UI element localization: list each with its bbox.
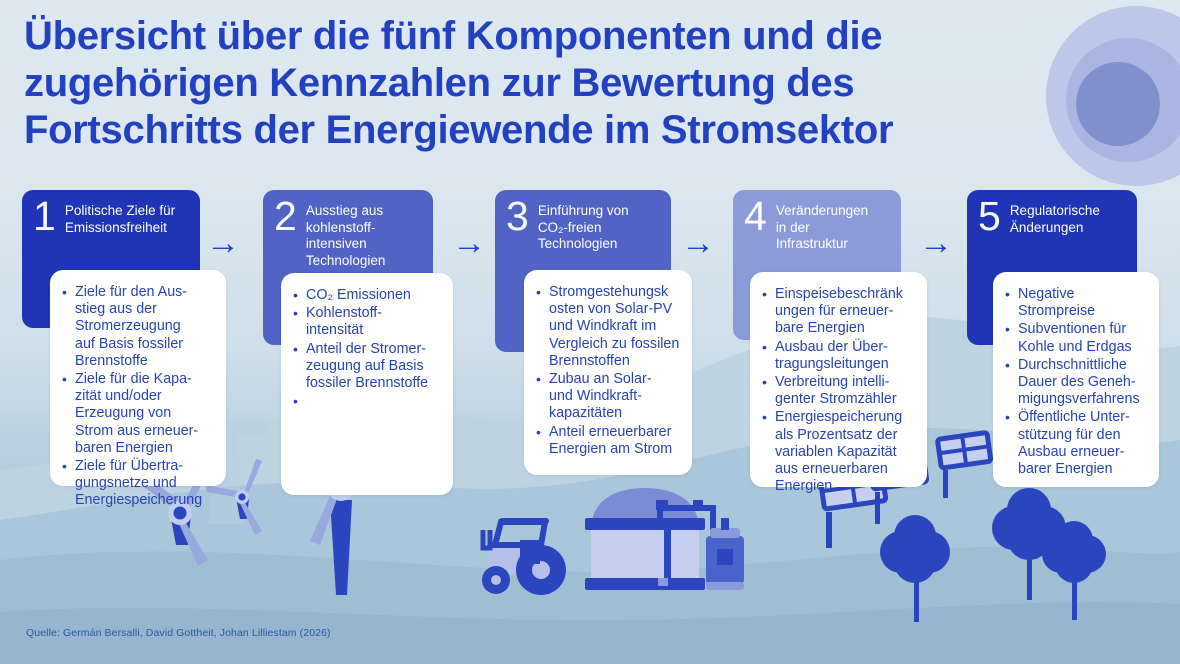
step-4-bullet-1: Einspeisebeschränk ungen für erneuer- ba… <box>775 286 915 338</box>
step-3-bullet-3: Anteil erneuerbarer Energien am Strom <box>549 424 680 458</box>
arrow-2-to-3: → <box>452 226 486 260</box>
step-3-body: Stromgestehungsk osten von Solar-PV und … <box>524 270 692 475</box>
step-1-bullet-2: Ziele für die Kapa- zität und/oder Erzeu… <box>75 371 214 457</box>
step-1-body: Ziele für den Aus- stieg aus der Stromer… <box>50 270 226 486</box>
arrow-icon: → <box>681 224 715 262</box>
infographic-canvas: Übersicht über die fünf Komponenten und … <box>0 0 1180 664</box>
step-5-number: 5 <box>978 198 1001 234</box>
step-2-bullet-2: Kohlenstoff- intensität <box>306 305 441 339</box>
step-4-bullet-4: Energiespeicherung als Prozentsatz der v… <box>775 409 915 495</box>
step-1-bullet-1: Ziele für den Aus- stieg aus der Stromer… <box>75 284 214 370</box>
step-4-body: Einspeisebeschränk ungen für erneuer- ba… <box>750 272 927 487</box>
arrow-icon: → <box>919 224 953 262</box>
step-3-bullet-1: Stromgestehungsk osten von Solar-PV und … <box>549 284 680 370</box>
step-5-bullet-1: Negative Strompreise <box>1018 286 1147 320</box>
step-5-bullet-2: Subventionen für Kohle und Erdgas <box>1018 321 1147 355</box>
step-4-bullet-3: Verbreitung intelli- genter Stromzähler <box>775 374 915 408</box>
step-1-bullet-3: Ziele für Übertra- gungsnetze und Energi… <box>75 458 214 510</box>
step-5-bullet-3: Durchschnittliche Dauer des Geneh- migun… <box>1018 357 1147 409</box>
step-5-body: Negative Strompreise Subventionen für Ko… <box>993 272 1159 487</box>
step-1-heading: Politische Ziele für Emissionsfreiheit <box>65 201 175 236</box>
step-2-body: CO₂ Emissionen Kohlenstoff- intensität A… <box>281 273 453 495</box>
arrow-1-to-2: → <box>206 226 240 260</box>
step-2-number: 2 <box>274 198 297 234</box>
arrow-4-to-5: → <box>919 226 953 260</box>
arrow-3-to-4: → <box>681 226 715 260</box>
step-2-bullet-4 <box>306 393 441 410</box>
step-2-heading: Ausstieg aus kohlenstoff- intensiven Tec… <box>306 201 386 269</box>
source-caption: Quelle: Germán Bersalli, David Gottheit,… <box>26 627 331 639</box>
arrow-icon: → <box>452 224 486 262</box>
component-steps: 1 Politische Ziele für Emissionsfreiheit… <box>0 190 1180 510</box>
step-4-number: 4 <box>744 198 767 234</box>
step-3-heading: Einführung von CO₂-freien Technologien <box>538 201 629 253</box>
step-4-heading: Veränderungen in der Infrastruktur <box>776 201 868 253</box>
step-4-bullet-2: Ausbau der Über- tragungsleitungen <box>775 339 915 373</box>
step-5-bullet-4: Öffentliche Unter- stützung für den Ausb… <box>1018 409 1147 478</box>
page-title: Übersicht über die fünf Komponenten und … <box>24 13 1084 154</box>
step-3-number: 3 <box>506 198 529 234</box>
step-2-bullet-1: CO₂ Emissionen <box>306 287 441 304</box>
step-1-number: 1 <box>33 198 56 234</box>
gas-storage-tank-icon <box>706 518 744 590</box>
step-5-heading: Regulatorische Änderungen <box>1010 201 1100 236</box>
step-3-bullet-2: Zubau an Solar- und Windkraft- kapazität… <box>549 371 680 423</box>
step-2-bullet-3: Anteil der Stromer- zeugung auf Basis fo… <box>306 341 441 393</box>
arrow-icon: → <box>206 224 240 262</box>
